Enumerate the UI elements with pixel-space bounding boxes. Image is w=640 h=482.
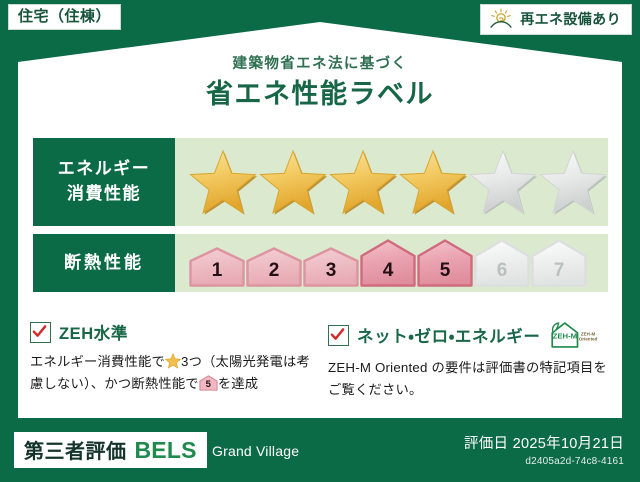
zeh-standard-checkbox [30,322,51,343]
check-icon [32,324,47,339]
energy-label-line1: エネルギー [58,157,151,182]
insulation-performance-label: 断熱性能 [33,234,175,292]
energy-performance-label: 住宅（住棟） 再エネ設備あり 建築物省エネ法に基づく 省エネ性能ラベル エネルギ… [0,0,640,482]
building-name: Grand Village [212,443,299,459]
inline-house-level: 5 [199,380,218,390]
net-zero-checkbox [328,325,349,346]
note-zeh-standard: ZEH水準 エネルギー消費性能で3つ（太陽光発電は考慮しない）、かつ断熱性能で5… [30,320,312,400]
category-tag: 住宅（住棟） [8,4,121,30]
note-zeh-header: ZEH水準 [30,320,312,344]
star-filled-icon [399,149,467,215]
insulation-level-house: 3 [303,247,359,287]
notes-section: ZEH水準 エネルギー消費性能で3つ（太陽光発電は考慮しない）、かつ断熱性能で5… [30,320,610,400]
svg-text:ZEH-M: ZEH-M [553,332,577,341]
footer-bar: 第三者評価 BELS Grand Village 評価日 2025年10月21日… [0,420,640,482]
insulation-level-house: 6 [474,239,530,287]
zeh-m-logo-icon: ZEH-M ZEH-M Oriented [548,320,600,350]
svg-text:Oriented: Oriented [579,337,598,342]
star-strip [189,149,607,215]
net-zero-title: ネット・ゼロ・エネルギー [357,323,540,347]
label-title-block: 建築物省エネ法に基づく 省エネ性能ラベル [0,56,640,110]
note-nze-header: ネット・ゼロ・エネルギー ZEH-M ZEH-M Oriented [328,320,610,350]
zeh-body-part3: を達成 [218,376,259,391]
house-strip: 1234567 [189,239,587,287]
insulation-level-number: 5 [417,261,473,280]
insulation-level-house: 1 [189,247,245,287]
zeh-standard-title: ZEH水準 [59,320,128,344]
bels-logo-text: BELS [135,437,197,464]
insulation-level-number: 7 [531,261,587,280]
performance-rows: エネルギー 消費性能 断熱性能 1234567 [33,138,608,300]
energy-performance-label: エネルギー 消費性能 [33,138,175,226]
title-main: 省エネ性能ラベル [0,79,640,110]
footer-eval-info: 評価日 2025年10月21日 d2405a2d-74c8-4161 [464,432,624,467]
insulation-level-house: 4 [360,239,416,287]
star-filled-icon [189,149,257,215]
evaluation-date: 評価日 2025年10月21日 [464,432,624,453]
insulation-level-house: 2 [246,247,302,287]
bels-certification-box: 第三者評価 BELS [14,432,207,468]
evaluation-id: d2405a2d-74c8-4161 [464,456,624,467]
insulation-performance-row: 断熱性能 1234567 [33,234,608,292]
renewable-badge-label: 再エネ設備あり [520,9,621,29]
title-subtitle: 建築物省エネ法に基づく [0,56,640,73]
energy-performance-row: エネルギー 消費性能 [33,138,608,226]
inline-house-badge: 5 [199,375,218,391]
sun-icon [488,8,514,30]
insulation-level-number: 1 [189,261,245,280]
insulation-level-number: 3 [303,261,359,280]
check-icon [330,327,345,342]
star-empty-icon [539,149,607,215]
third-party-label-jp: 第三者評価 [24,435,127,464]
insulation-level-number: 2 [246,261,302,280]
energy-star-rating [175,138,608,226]
insulation-level-house: 7 [531,239,587,287]
zeh-standard-body: エネルギー消費性能で3つ（太陽光発電は考慮しない）、かつ断熱性能で5を達成 [30,351,312,394]
energy-label-line2: 消費性能 [67,182,141,207]
star-filled-icon [259,149,327,215]
note-net-zero-energy: ネット・ゼロ・エネルギー ZEH-M ZEH-M Oriented ZEH-M … [328,320,610,400]
star-empty-icon [469,149,537,215]
zeh-body-part1: エネルギー消費性能で [30,354,165,369]
insulation-level-scale: 1234567 [175,234,608,292]
net-zero-body: ZEH-M Oriented の要件は評価書の特記項目をご覧ください。 [328,357,610,400]
inline-star-icon [165,353,181,369]
insulation-level-number: 4 [360,261,416,280]
star-filled-icon [329,149,397,215]
zeh-body-star-count: 3つ [181,354,202,369]
insulation-label-text: 断熱性能 [64,251,144,276]
insulation-level-house: 5 [417,239,473,287]
renewable-energy-badge: 再エネ設備あり [480,4,632,35]
insulation-level-number: 6 [474,261,530,280]
